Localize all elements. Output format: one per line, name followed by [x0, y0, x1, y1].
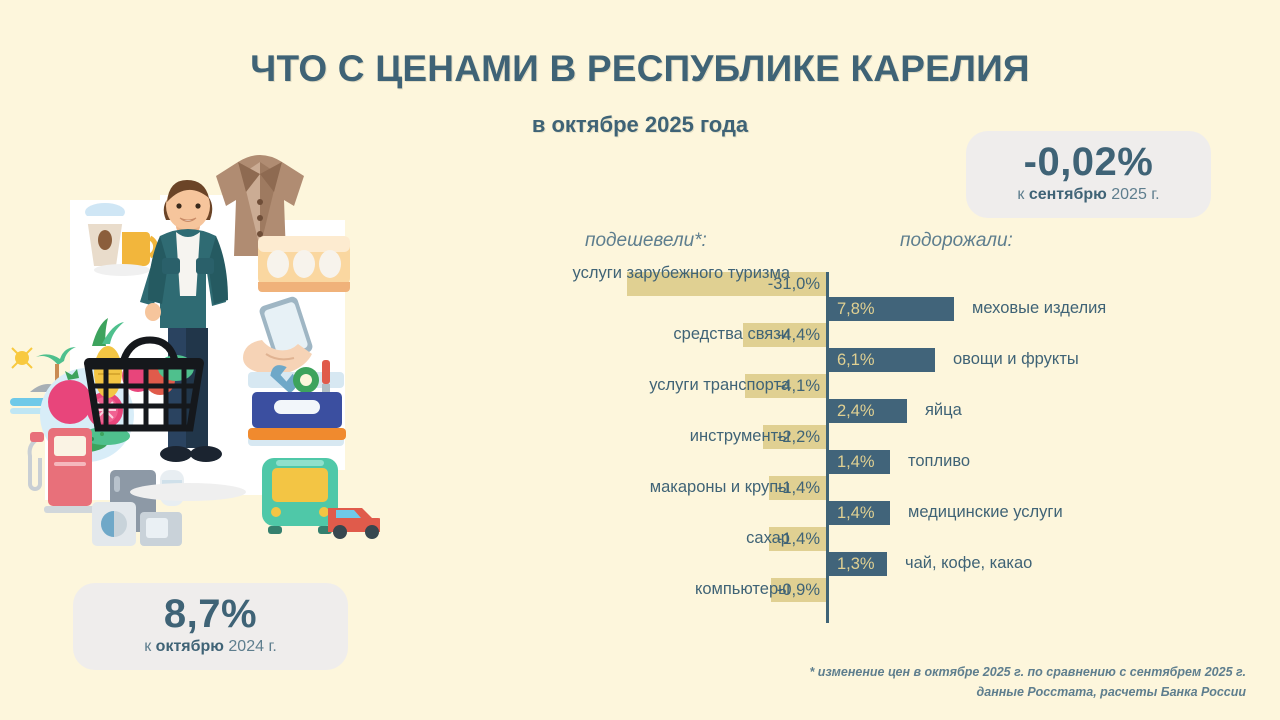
category-label-decrease: услуги транспорта [490, 376, 790, 394]
badge-year-bold: октябрю [156, 638, 224, 655]
badge-month-suffix: 2025 г. [1107, 186, 1160, 203]
chart-row-decrease: -31,0%услуги зарубежного туризма [400, 272, 1230, 296]
bar-value-label: 1,3% [837, 552, 875, 576]
category-label-increase: топливо [908, 452, 970, 470]
column-header-increased: подорожали: [900, 230, 1013, 252]
chart-row-decrease: -1,4%сахар [400, 527, 1230, 551]
chart-row-decrease: -0,9%компьютеры [400, 578, 1230, 602]
category-label-decrease: инструменты [490, 427, 790, 445]
column-header-decreased: подешевели*: [585, 230, 707, 252]
chart-row-increase: 7,8%меховые изделия [400, 297, 1230, 321]
category-label-decrease: сахар [490, 529, 790, 547]
chart-row-decrease: -4,4%средства связи [400, 323, 1230, 347]
badge-year-over-year: 8,7% к октябрю 2024 г. [73, 583, 348, 670]
category-label-decrease: средства связи [490, 325, 790, 343]
badge-year-prefix: к [144, 638, 155, 655]
category-label-increase: меховые изделия [972, 299, 1106, 317]
badge-month-caption: к сентябрю 2025 г. [988, 186, 1189, 204]
category-label-increase: медицинские услуги [908, 503, 1063, 521]
badge-year-suffix: 2024 г. [224, 638, 277, 655]
badge-year-value: 8,7% [95, 593, 326, 636]
badge-year-caption: к октябрю 2024 г. [95, 638, 326, 656]
footnote: * изменение цен в октябре 2025 г. по сра… [809, 663, 1246, 702]
footnote-line-2: данные Росстата, расчеты Банка России [809, 683, 1246, 702]
badge-month-bold: сентябрю [1029, 186, 1107, 203]
price-basket-illustration [10, 140, 380, 550]
bar-value-label: 7,8% [837, 297, 875, 321]
category-label-decrease: макароны и крупы [490, 478, 790, 496]
bar-value-label: 6,1% [837, 348, 875, 372]
category-label-increase: чай, кофе, какао [905, 554, 1032, 572]
category-label-decrease: компьютеры [490, 580, 790, 598]
chart-row-increase: 1,4%топливо [400, 450, 1230, 474]
badge-month-prefix: к [1017, 186, 1028, 203]
bar-value-label: 2,4% [837, 399, 875, 423]
chart-row-increase: 6,1%овощи и фрукты [400, 348, 1230, 372]
category-label-decrease: услуги зарубежного туризма [490, 264, 790, 282]
badge-month-value: -0,02% [988, 141, 1189, 184]
chart-row-decrease: -4,1%услуги транспорта [400, 374, 1230, 398]
chart-row-increase: 1,4%медицинские услуги [400, 501, 1230, 525]
infographic-canvas: ЧТО С ЦЕНАМИ В РЕСПУБЛИКЕ КАРЕЛИЯ в октя… [0, 0, 1280, 720]
chart-rows: -31,0%услуги зарубежного туризма-4,4%сре… [400, 272, 1230, 632]
footnote-line-1: * изменение цен в октябре 2025 г. по сра… [809, 663, 1246, 682]
toolbox-icon [248, 360, 346, 446]
egg-carton-icon [258, 236, 350, 292]
price-change-chart: подешевели*: подорожали: -31,0%услуги за… [400, 230, 1230, 650]
badge-month-over-month: -0,02% к сентябрю 2025 г. [966, 131, 1211, 218]
bar-value-label: 1,4% [837, 501, 875, 525]
chart-row-decrease: -1,4%макароны и крупы [400, 476, 1230, 500]
category-label-increase: овощи и фрукты [953, 350, 1079, 368]
chart-row-decrease: -2,2%инструменты [400, 425, 1230, 449]
chart-row-increase: 1,3%чай, кофе, какао [400, 552, 1230, 576]
category-label-increase: яйца [925, 401, 962, 419]
chart-row-increase: 2,4%яйца [400, 399, 1230, 423]
fuel-pump-icon [30, 428, 96, 513]
bus-and-car-icon [262, 458, 380, 539]
page-title: ЧТО С ЦЕНАМИ В РЕСПУБЛИКЕ КАРЕЛИЯ [0, 48, 1280, 90]
bar-value-label: 1,4% [837, 450, 875, 474]
